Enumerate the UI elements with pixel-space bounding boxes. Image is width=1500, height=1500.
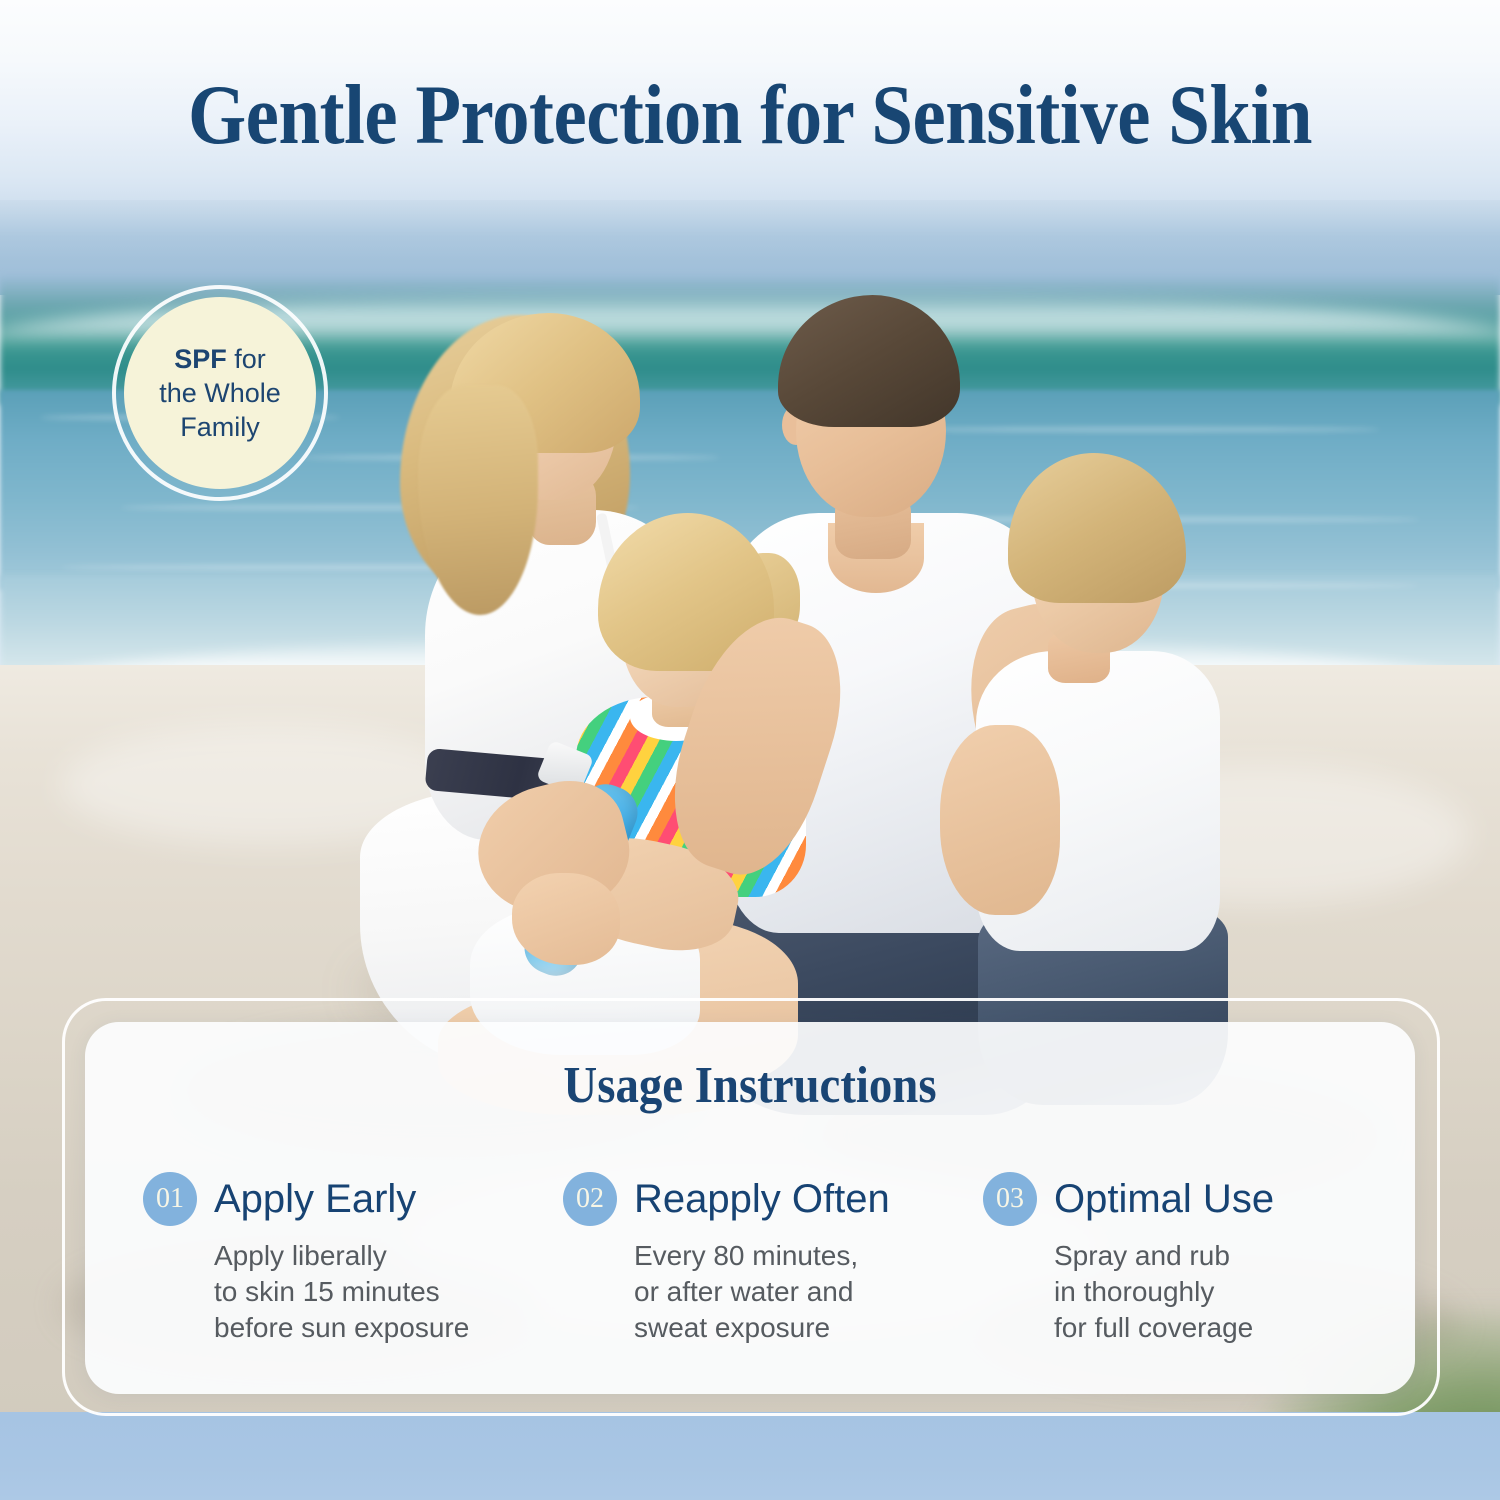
footer-strip (0, 1412, 1500, 1500)
badge-spf-label: SPF (174, 344, 227, 374)
step-description-line: before sun exposure (214, 1310, 545, 1346)
badge-line2: the Whole (159, 378, 281, 408)
father-hair (778, 295, 960, 427)
step-description: Apply liberally to skin 15 minutes befor… (214, 1238, 545, 1346)
poster-canvas: Gentle Protection for Sensitive Skin SPF… (0, 0, 1500, 1500)
step-description-line: in thoroughly (1054, 1274, 1345, 1310)
step-item: 03 Optimal Use Spray and rub in thorough… (983, 1172, 1363, 1346)
usage-instructions-panel: Usage Instructions 01 Apply Early Apply … (85, 1022, 1415, 1394)
badge-text: SPF for the Whole Family (149, 342, 291, 444)
step-number-badge: 01 (143, 1172, 197, 1226)
step-number-badge: 03 (983, 1172, 1037, 1226)
spf-family-badge: SPF for the Whole Family (112, 285, 328, 501)
son-hair (1008, 453, 1186, 603)
step-header: 01 Apply Early (143, 1172, 545, 1226)
step-description-line: for full coverage (1054, 1310, 1345, 1346)
panel-title: Usage Instructions (152, 1056, 1349, 1116)
step-description-line: to skin 15 minutes (214, 1274, 545, 1310)
step-description-line: or after water and (634, 1274, 965, 1310)
step-number-badge: 02 (563, 1172, 617, 1226)
step-title: Optimal Use (1054, 1177, 1274, 1221)
step-description-line: Every 80 minutes, (634, 1238, 965, 1274)
step-item: 01 Apply Early Apply liberally to skin 1… (143, 1172, 563, 1346)
step-header: 03 Optimal Use (983, 1172, 1345, 1226)
step-description-line: Spray and rub (1054, 1238, 1345, 1274)
son-arm (940, 725, 1060, 915)
step-title: Reapply Often (634, 1177, 890, 1221)
step-header: 02 Reapply Often (563, 1172, 965, 1226)
step-item: 02 Reapply Often Every 80 minutes, or af… (563, 1172, 983, 1346)
steps-list: 01 Apply Early Apply liberally to skin 1… (143, 1172, 1363, 1346)
step-description: Every 80 minutes, or after water and swe… (634, 1238, 965, 1346)
step-description-line: sweat exposure (634, 1310, 965, 1346)
page-title: Gentle Protection for Sensitive Skin (90, 68, 1410, 162)
step-title: Apply Early (214, 1177, 416, 1221)
badge-circle: SPF for the Whole Family (124, 297, 316, 489)
family-group (330, 285, 1190, 1005)
badge-line3: Family (180, 412, 260, 442)
badge-for-label: for (227, 344, 266, 374)
step-description-line: Apply liberally (214, 1238, 545, 1274)
mother-hand (512, 873, 620, 965)
step-description: Spray and rub in thoroughly for full cov… (1054, 1238, 1345, 1346)
